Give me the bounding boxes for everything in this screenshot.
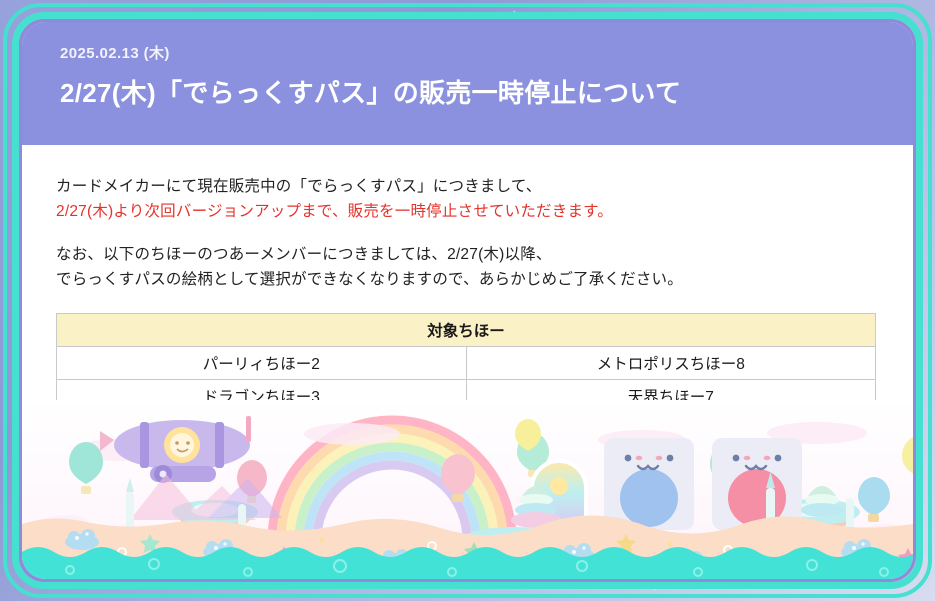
table-cell: メトロポリスちほー8 [466,347,876,380]
character-card-pink [712,438,802,530]
footer-illustration [22,400,913,579]
paragraph-spacer [56,224,913,242]
table-row: パーリィちほー2 メトロポリスちほー8 [57,347,876,380]
table-header-cell: 対象ちほー [57,314,876,347]
paragraph-2-line-1: なお、以下のちほーのつあーメンバーにつきましては、2/27(木)以降、 [56,242,913,267]
character-card-blue [604,438,694,530]
paragraph-1-line-1: カードメイカーにて現在販売中の「でらっくすパス」につきまして、 [56,174,913,199]
page-title: 2/27(木)「でらっくすパス」の販売一時停止について [60,77,913,110]
landscape-svg [22,400,913,579]
table-header-row: 対象ちほー [57,314,876,347]
announcement-card: 2025.02.13 (木) 2/27(木)「でらっくすパス」の販売一時停止につ… [22,22,913,579]
paragraph-2-line-2: でらっくすパスの絵柄として選択ができなくなりますので、あらかじめご了承ください。 [56,267,913,292]
target-regions-table: 対象ちほー パーリィちほー2 メトロポリスちほー8 ドラゴンちほー3 天界ちほー… [56,313,876,413]
announcement-body: カードメイカーにて現在販売中の「でらっくすパス」につきまして、 2/27(木)よ… [22,145,913,413]
paragraph-1-line-2: 2/27(木)より次回バージョンアップまで、販売を一時停止させていただきます。 [56,199,913,224]
post-date: 2025.02.13 (木) [60,42,913,63]
table-cell: パーリィちほー2 [57,347,467,380]
announcement-header: 2025.02.13 (木) 2/27(木)「でらっくすパス」の販売一時停止につ… [22,22,913,145]
